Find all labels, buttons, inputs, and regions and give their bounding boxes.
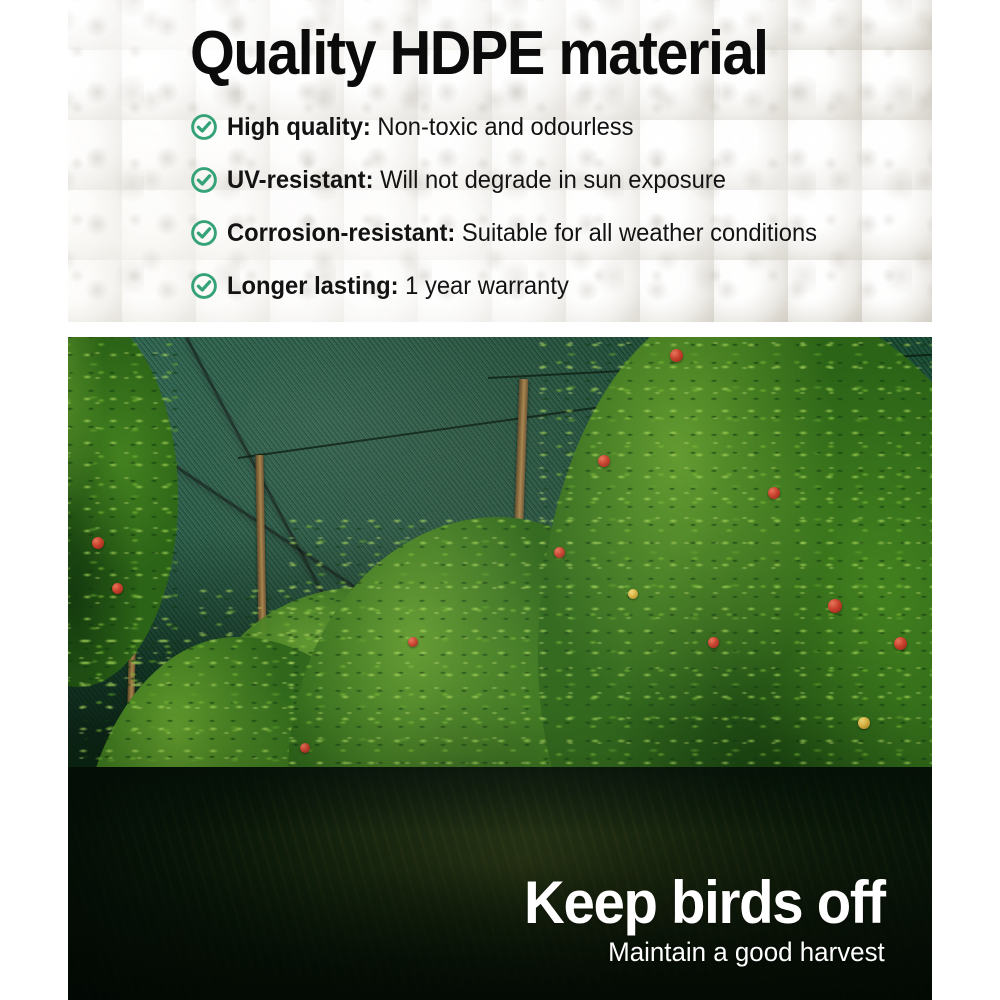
feature-text: Corrosion-resistant: Suitable for all we… [227,219,817,247]
feature-detail: 1 year warranty [405,272,569,300]
feature-list: High quality: Non-toxic and odourless UV… [190,100,932,312]
feature-lead: UV-resistant: [227,166,374,194]
page-title: Quality HDPE material [190,24,932,84]
apple-fruit [670,349,683,362]
check-circle-icon [190,272,218,300]
feature-lead: High quality: [227,113,371,141]
foliage-texture [68,337,178,687]
feature-text: UV-resistant: Will not degrade in sun ex… [227,166,726,194]
feature-detail: Non-toxic and odourless [377,113,633,141]
feature-lead: Longer lasting: [227,272,399,300]
feature-item-high-quality: High quality: Non-toxic and odourless [190,100,932,153]
apple-fruit [408,637,418,647]
check-circle-icon [190,166,218,194]
apple-fruit [858,717,870,729]
feature-item-longer-lasting: Longer lasting: 1 year warranty [190,259,932,312]
apple-fruit [112,583,123,594]
hdpe-material-panel: Quality HDPE material High quality: Non-… [68,0,932,322]
feature-detail: Will not degrade in sun exposure [380,166,726,194]
hdpe-copy-block: Quality HDPE material High quality: Non-… [190,24,932,312]
apple-fruit [828,599,842,613]
overlay-subtitle: Maintain a good harvest [517,936,885,968]
orchard-photo-panel: Keep birds off Maintain a good harvest [68,337,932,1000]
apple-fruit [768,487,780,499]
feature-text: High quality: Non-toxic and odourless [227,113,634,141]
feature-detail: Suitable for all weather conditions [462,219,817,247]
apple-fruit [92,537,104,549]
overlay-title: Keep birds off [524,874,885,932]
orchard-overlay-copy: Keep birds off Maintain a good harvest [501,874,885,968]
apple-fruit [894,637,907,650]
apple-fruit [708,637,719,648]
feature-item-corrosion-resistant: Corrosion-resistant: Suitable for all we… [190,206,932,259]
apple-tree-far-left [68,337,178,687]
apple-fruit [300,743,310,753]
product-feature-page: Quality HDPE material High quality: Non-… [0,0,1000,1000]
check-circle-icon [190,219,218,247]
apple-fruit [554,547,565,558]
apple-fruit [628,589,638,599]
apple-fruit [598,455,610,467]
feature-item-uv-resistant: UV-resistant: Will not degrade in sun ex… [190,153,932,206]
check-circle-icon [190,113,218,141]
feature-lead: Corrosion-resistant: [227,219,455,247]
feature-text: Longer lasting: 1 year warranty [227,272,569,300]
